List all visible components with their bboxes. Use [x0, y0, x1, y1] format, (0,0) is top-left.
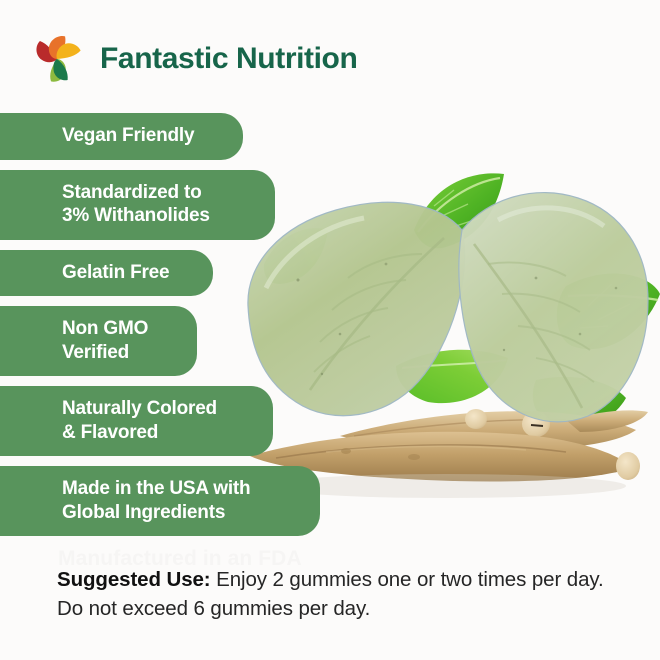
product-infographic: Fantastic Nutrition — [0, 0, 660, 660]
brand-header: Fantastic Nutrition — [28, 28, 357, 90]
feature-pill-naturally-colored-flavored[interactable]: Naturally Colored & Flavored — [0, 386, 273, 456]
feature-pill-gelatin-free[interactable]: Gelatin Free — [0, 250, 213, 297]
suggested-use-text: Suggested Use: Enjoy 2 gummies one or tw… — [57, 565, 632, 623]
feature-pill-non-gmo-verified[interactable]: Non GMO Verified — [0, 306, 197, 376]
pinwheel-flower-logo-icon — [28, 30, 86, 88]
suggested-use-label: Suggested Use: — [57, 568, 211, 591]
brand-name: Fantastic Nutrition — [100, 44, 357, 74]
feature-pill-made-in-usa[interactable]: Made in the USA with Global Ingredients — [0, 466, 320, 536]
feature-pill-list: Vegan Friendly Standardized to 3% Withan… — [0, 113, 340, 546]
feature-pill-standardized-withanolides[interactable]: Standardized to 3% Withanolides — [0, 170, 275, 240]
feature-pill-vegan-friendly[interactable]: Vegan Friendly — [0, 113, 243, 160]
